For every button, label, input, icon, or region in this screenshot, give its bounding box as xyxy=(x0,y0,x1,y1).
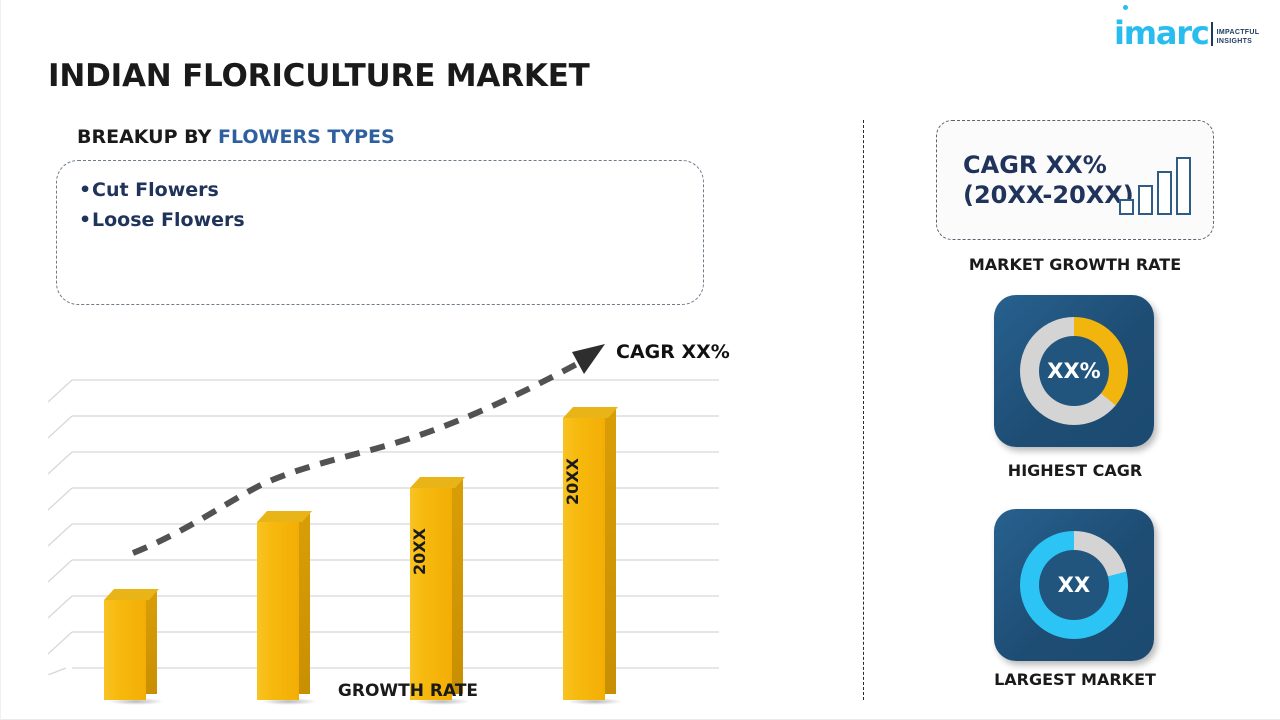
bar-side-face xyxy=(605,408,616,694)
bar-icon-3 xyxy=(1157,171,1172,215)
largest-market-value: XX xyxy=(1020,531,1128,639)
logo-tagline-line1: IMPACTFUL xyxy=(1217,28,1260,37)
market-growth-rate-caption: MARKET GROWTH RATE xyxy=(936,255,1214,274)
bar-label: 20XX xyxy=(410,504,452,600)
bullet-marker: • xyxy=(79,175,92,205)
bar-side-face xyxy=(299,512,310,694)
section-subtitle: BREAKUP BY FLOWERS TYPES xyxy=(77,126,395,148)
subtitle-prefix: BREAKUP BY xyxy=(77,126,218,148)
logo-tagline: IMPACTFUL INSIGHTS xyxy=(1217,28,1260,48)
list-item: •Cut Flowers xyxy=(79,175,703,205)
imarc-logo: imarc IMPACTFUL INSIGHTS xyxy=(1114,14,1259,48)
slide-canvas: imarc IMPACTFUL INSIGHTS INDIAN FLORICUL… xyxy=(0,0,1280,720)
page-title: INDIAN FLORICULTURE MARKET xyxy=(48,58,590,94)
largest-market-tile: XX xyxy=(994,509,1154,661)
growth-rate-bar-chart: 20XX 20XX xyxy=(48,330,768,700)
bar-icon-1 xyxy=(1119,199,1134,215)
ascending-bars-icon xyxy=(1119,157,1191,215)
list-item-label: Cut Flowers xyxy=(92,179,219,201)
largest-market-caption: LARGEST MARKET xyxy=(936,670,1214,689)
logo-wordmark: imarc xyxy=(1114,18,1209,48)
cagr-trend-label: CAGR XX% xyxy=(616,341,730,363)
bullet-marker: • xyxy=(79,205,92,235)
list-item-label: Loose Flowers xyxy=(92,209,245,231)
bar-side-face xyxy=(146,590,157,694)
logo-dot-icon xyxy=(1123,5,1128,10)
market-growth-rate-value: CAGR XX% (20XX-20XX) xyxy=(963,150,1134,210)
highest-cagr-value: XX% xyxy=(1020,317,1128,425)
cagr-line-1: CAGR XX% xyxy=(963,150,1134,180)
subtitle-highlight: FLOWERS TYPES xyxy=(218,126,395,148)
highest-cagr-caption: HIGHEST CAGR xyxy=(936,461,1214,480)
segment-list-box: •Cut Flowers •Loose Flowers xyxy=(56,160,704,305)
cagr-line-2: (20XX-20XX) xyxy=(963,180,1134,210)
bar-label: 20XX xyxy=(563,434,605,530)
list-item: •Loose Flowers xyxy=(79,205,703,235)
bar-icon-2 xyxy=(1138,185,1153,215)
bar-side-face xyxy=(452,478,463,694)
column-divider xyxy=(863,120,864,700)
bar-icon-4 xyxy=(1176,157,1191,215)
bar-label xyxy=(257,530,299,690)
chart-x-axis-label: GROWTH RATE xyxy=(48,681,768,701)
highest-cagr-donut: XX% xyxy=(1020,317,1128,425)
logo-tagline-line2: INSIGHTS xyxy=(1217,37,1260,46)
bar-label xyxy=(104,604,146,690)
highest-cagr-tile: XX% xyxy=(994,295,1154,447)
logo-divider xyxy=(1211,22,1213,46)
market-growth-rate-card: CAGR XX% (20XX-20XX) xyxy=(936,120,1214,240)
largest-market-donut: XX xyxy=(1020,531,1128,639)
